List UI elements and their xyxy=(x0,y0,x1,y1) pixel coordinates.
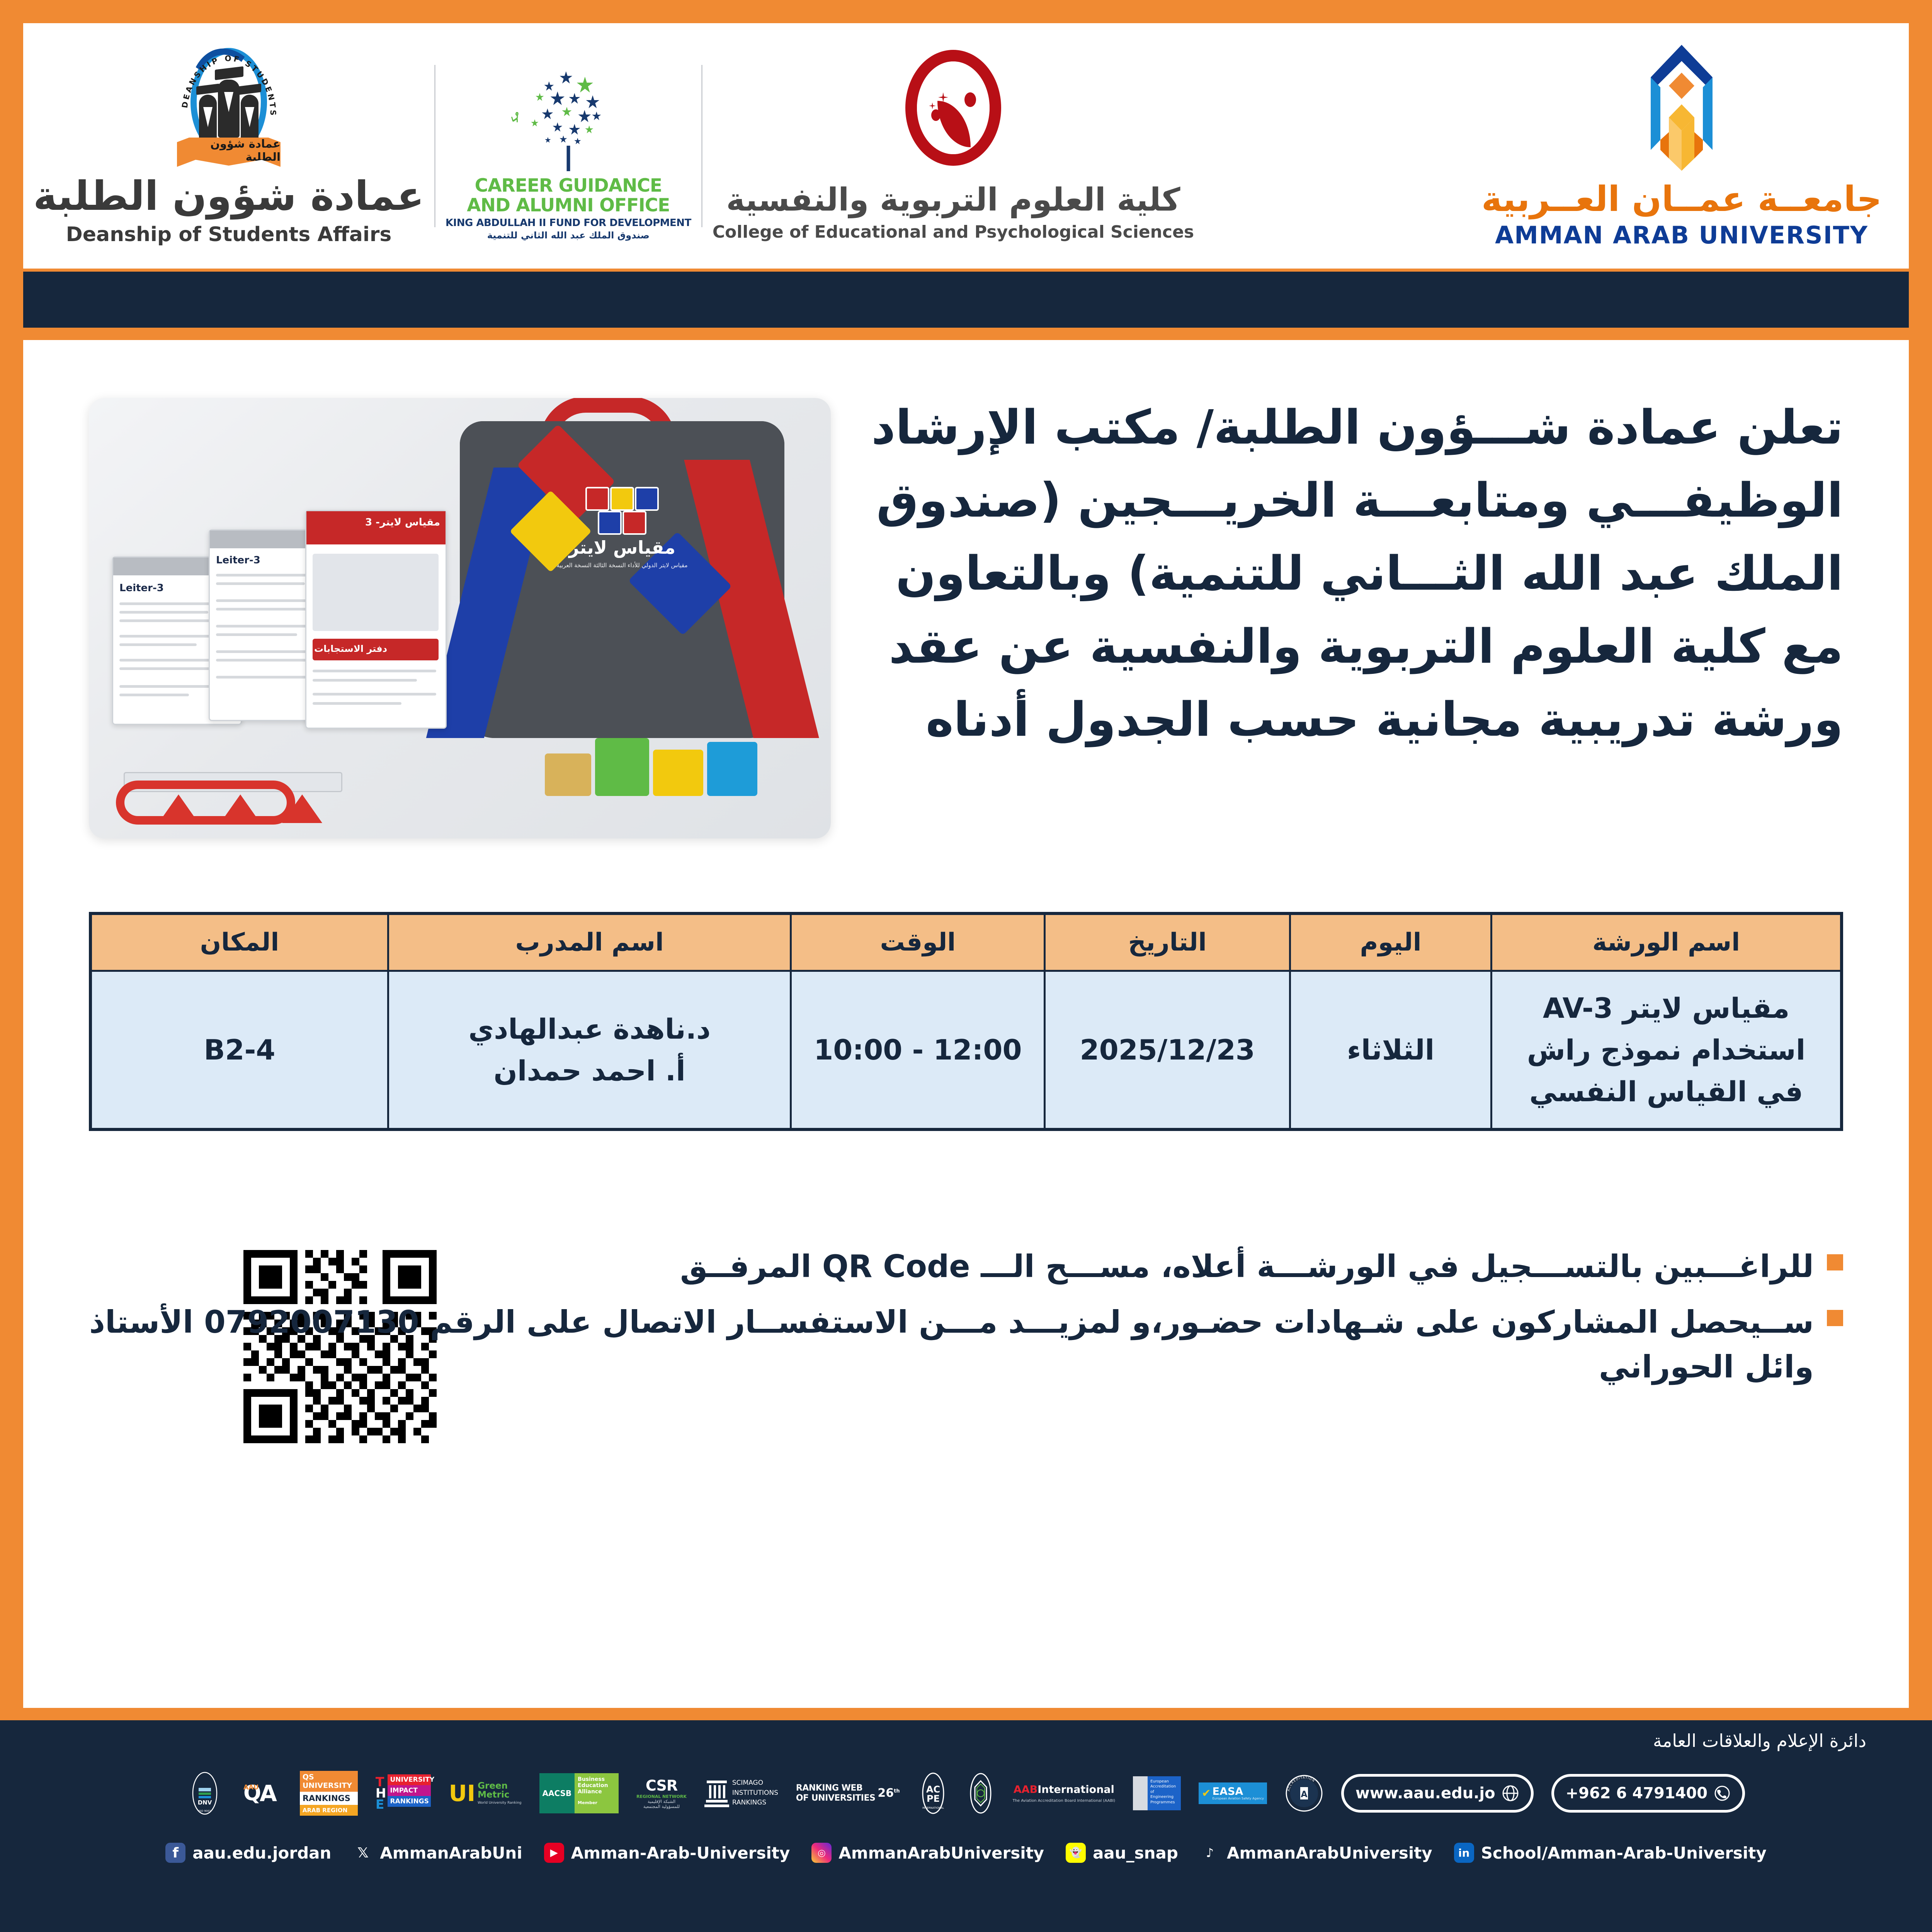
scimago-institutions-rankings-icon: SCIMAGOINSTITUTIONSRANKINGS xyxy=(704,1770,778,1816)
career-guidance-en-line1: CAREER GUIDANCE xyxy=(475,177,662,195)
footer-department-title: دائرة الإعلام والعلاقات العامة xyxy=(1653,1730,1866,1751)
university-arabic-title: جامعــة عمــان العــربية xyxy=(1481,179,1882,219)
social-facebook[interactable]: f aau.edu.jordan xyxy=(165,1843,331,1863)
navy-separator-strip xyxy=(23,272,1909,328)
linkedin-handle: School/Amman-Arab-University xyxy=(1481,1844,1767,1862)
th-day: اليوم xyxy=(1290,913,1491,971)
college-emblem-icon xyxy=(889,50,1017,177)
doc-brand-1: Leiter-3 xyxy=(119,582,164,594)
instagram-handle: AmmanArabUniversity xyxy=(838,1844,1044,1862)
kit-cubes-icon xyxy=(585,487,659,533)
university-english-title: AMMAN ARAB UNIVERSITY xyxy=(1495,221,1868,249)
svg-text:A: A xyxy=(1301,1790,1307,1799)
hero-section: مقياس لايتر مقياس لايتر الدولي للأداء ال… xyxy=(23,398,1909,846)
logo-college-educational-psychological-sciences: كلية العلوم التربوية والنفسية College of… xyxy=(702,23,1204,269)
th-place: المكان xyxy=(90,913,388,971)
phone-pill[interactable]: +962 6 4791400 xyxy=(1551,1770,1745,1816)
note-text-2: ســيحصل المشاركون على شـهادات حضـور،و لم… xyxy=(89,1300,1814,1389)
svg-text:A: A xyxy=(260,1780,277,1806)
accreditation-in-progress-icon: A ACCREDITATION xyxy=(1285,1770,1323,1816)
kit-toys xyxy=(545,726,761,815)
kit-arabic-label: مقياس لايتر xyxy=(557,537,688,558)
deanship-ribbon-text: عمادة شؤون الطلبة xyxy=(177,137,281,163)
logo-deanship-of-students-affairs: DEANSHIP OF STUDENTS AFFAIRS عمادة شؤون … xyxy=(23,23,434,269)
x-twitter-icon: 𝕏 xyxy=(353,1843,373,1863)
phone-number: +962 6 4791400 xyxy=(1566,1784,1708,1802)
footer: دائرة الإعلام والعلاقات العامة DNV ISO 9… xyxy=(0,1716,1932,1932)
facebook-handle: aau.edu.jordan xyxy=(192,1844,331,1862)
social-snapchat[interactable]: 👻 aau_snap xyxy=(1066,1843,1178,1863)
cell-date: 2025/12/23 xyxy=(1045,971,1290,1130)
footer-accent-line xyxy=(0,1716,1932,1720)
instagram-icon: ◎ xyxy=(811,1843,832,1863)
logo-career-guidance-office: مكتب الإرشاد الوظيفي ومتابعة الخريجين xyxy=(435,23,701,269)
college-arabic-title: كلية العلوم التربوية والنفسية xyxy=(726,182,1180,218)
social-youtube[interactable]: ▶ Amman-Arab-University xyxy=(544,1843,790,1863)
doc-manual-label: دفتر الاستجابات xyxy=(314,643,387,654)
deanship-arabic-title: عمادة شؤون الطلبة xyxy=(33,173,424,219)
poster-body: مقياس لايتر مقياس لايتر الدولي للأداء ال… xyxy=(23,340,1909,1708)
easa-icon: ✔ EASA European Aviation Safety Agency xyxy=(1199,1770,1267,1816)
website-url: www.aau.edu.jo xyxy=(1355,1784,1495,1802)
social-linkedin[interactable]: in School/Amman-Arab-University xyxy=(1454,1843,1767,1863)
workshop-schedule-table: اسم الورشة اليوم التاريخ الوقت اسم المدر… xyxy=(89,912,1843,1131)
doc-brand-3: مقياس لايتر- 3 xyxy=(365,517,440,528)
social-instagram[interactable]: ◎ AmmanArabUniversity xyxy=(811,1843,1044,1863)
aab-subtitle: The Aviation Accreditation Board Interna… xyxy=(1013,1799,1116,1803)
doc-brand-2: Leiter-3 xyxy=(216,554,260,566)
svg-text:AAU: AAU xyxy=(243,1784,259,1791)
aab-international-icon: AABInternational The Aviation Accreditat… xyxy=(1013,1770,1116,1816)
cell-day: الثلاثاء xyxy=(1290,971,1491,1130)
tiktok-handle: AmmanArabUniversity xyxy=(1227,1844,1432,1862)
career-guidance-tree-icon xyxy=(524,71,613,171)
youtube-handle: Amman-Arab-University xyxy=(571,1844,790,1862)
university-emblem-icon xyxy=(1629,43,1734,176)
accreditation-logos-row: DNV ISO 9001 Q A AAU QS UNIVERSITY RANKI… xyxy=(0,1761,1932,1825)
cell-trainer: د.ناهدة عبدالهادي أ. احمد حمدان xyxy=(388,971,791,1130)
cell-place: B2-4 xyxy=(90,971,388,1130)
note-item-2: ســيحصل المشاركون على شـهادات حضـور،و لم… xyxy=(89,1300,1843,1389)
college-english-title: College of Educational and Psychological… xyxy=(713,222,1194,242)
announcement-text: تعلن عمادة شـــؤون الطلبة/ مكتب الإرشاد … xyxy=(854,391,1843,756)
x-handle: AmmanArabUni xyxy=(380,1844,522,1862)
career-guidance-ar-line: صندوق الملك عبد الله الثاني للتنمية xyxy=(487,230,650,241)
table-row: مقياس لايتر AV-3 استخدام نموذج راش في ال… xyxy=(90,971,1842,1130)
social-x[interactable]: 𝕏 AmmanArabUni xyxy=(353,1843,522,1863)
logo-amman-arab-university: جامعــة عمــان العــربية AMMAN ARAB UNIV… xyxy=(1481,23,1909,269)
svg-text:PE: PE xyxy=(927,1793,940,1804)
note-text-1: للراغـــبين بالتســـجيل في الورشـــة أعل… xyxy=(89,1244,1814,1289)
facebook-icon: f xyxy=(165,1843,185,1863)
phone-icon xyxy=(1714,1785,1731,1802)
globe-icon xyxy=(1502,1784,1519,1802)
kit-rope xyxy=(116,781,295,825)
website-pill[interactable]: www.aau.edu.jo xyxy=(1341,1770,1534,1816)
poster-root: DEANSHIP OF STUDENTS AFFAIRS عمادة شؤون … xyxy=(0,0,1932,1932)
youtube-icon: ▶ xyxy=(544,1843,564,1863)
social-media-row: f aau.edu.jordan 𝕏 AmmanArabUni ▶ Amman-… xyxy=(0,1832,1932,1874)
ranking-web-of-universities-icon: RANKING WEBOF UNIVERSITIES 26th xyxy=(796,1770,900,1816)
tiktok-icon: ♪ xyxy=(1200,1843,1220,1863)
workshop-kit-image: مقياس لايتر مقياس لايتر الدولي للأداء ال… xyxy=(89,398,831,838)
svg-text:ISO 9001: ISO 9001 xyxy=(199,1810,211,1813)
dnv-iso-icon: DNV ISO 9001 xyxy=(187,1770,223,1816)
notes-section: للراغـــبين بالتســـجيل في الورشـــة أعل… xyxy=(89,1244,1843,1400)
deanship-english-title: Deanship of Students Affairs xyxy=(66,223,392,246)
cell-time: 12:00 - 10:00 xyxy=(791,971,1045,1130)
th-trainer: اسم المدرب xyxy=(388,913,791,971)
snapchat-icon: 👻 xyxy=(1066,1843,1086,1863)
th-time: الوقت xyxy=(791,913,1045,971)
kit-arabic-sublabel: مقياس لايتر الدولي للأداء النسخة الثالثة… xyxy=(557,561,688,570)
header-logo-band: DEANSHIP OF STUDENTS AFFAIRS عمادة شؤون … xyxy=(23,23,1909,269)
aaru-qa-icon: Q A AAU xyxy=(240,1770,282,1816)
svg-text:INTERNATIONAL: INTERNATIONAL xyxy=(922,1806,944,1810)
kit-documents: Leiter-3 Leiter-3 xyxy=(112,487,568,765)
table-header-row: اسم الورشة اليوم التاريخ الوقت اسم المدر… xyxy=(90,913,1842,971)
career-guidance-en-line3: KING ABDULLAH II FUND FOR DEVELOPMENT xyxy=(446,217,691,229)
acpe-international-icon: AC PE INTERNATIONAL xyxy=(918,1770,949,1816)
qs-university-rankings-icon: QS UNIVERSITY RANKINGS ARAB REGION xyxy=(300,1770,358,1816)
th-workshop-name: اسم الورشة xyxy=(1492,913,1842,971)
islamic-accreditation-seal-icon xyxy=(966,1770,995,1816)
social-tiktok[interactable]: ♪ AmmanArabUniversity xyxy=(1200,1843,1432,1863)
linkedin-icon: in xyxy=(1454,1843,1474,1863)
snapchat-handle: aau_snap xyxy=(1093,1844,1178,1862)
svg-text:مكتب الإرشاد الوظيفي ومتابعة ا: مكتب الإرشاد الوظيفي ومتابعة الخريجين xyxy=(505,51,521,122)
bullet-square-icon xyxy=(1827,1254,1843,1270)
deanship-emblem-icon: DEANSHIP OF STUDENTS AFFAIRS عمادة شؤون … xyxy=(171,46,287,169)
career-guidance-emblem-icon: مكتب الإرشاد الوظيفي ومتابعة الخريجين xyxy=(505,51,632,175)
cell-workshop-name: مقياس لايتر AV-3 استخدام نموذج راش في ال… xyxy=(1492,971,1842,1130)
aacsb-business-education-alliance-icon: AACSB BusinessEducationAlliance Member xyxy=(539,1770,619,1816)
eur-ace-icon: European Accreditation of Engineering Pr… xyxy=(1133,1770,1181,1816)
svg-text:DNV: DNV xyxy=(198,1799,212,1806)
ui-greenmetric-icon: UI Green Metric World University Ranking xyxy=(449,1770,521,1816)
the-university-impact-rankings-icon: THE UNIVERSITY IMPACT RANKINGS xyxy=(376,1770,431,1816)
th-date: التاريخ xyxy=(1045,913,1290,971)
bullet-square-icon xyxy=(1827,1310,1843,1326)
career-guidance-en-line2: AND ALUMNI OFFICE xyxy=(467,196,670,214)
csr-regional-network-icon: CSR REGIONAL NETWORK الشبكة الإقليمية لل… xyxy=(636,1770,687,1816)
note-item-1: للراغـــبين بالتســـجيل في الورشـــة أعل… xyxy=(89,1244,1843,1289)
